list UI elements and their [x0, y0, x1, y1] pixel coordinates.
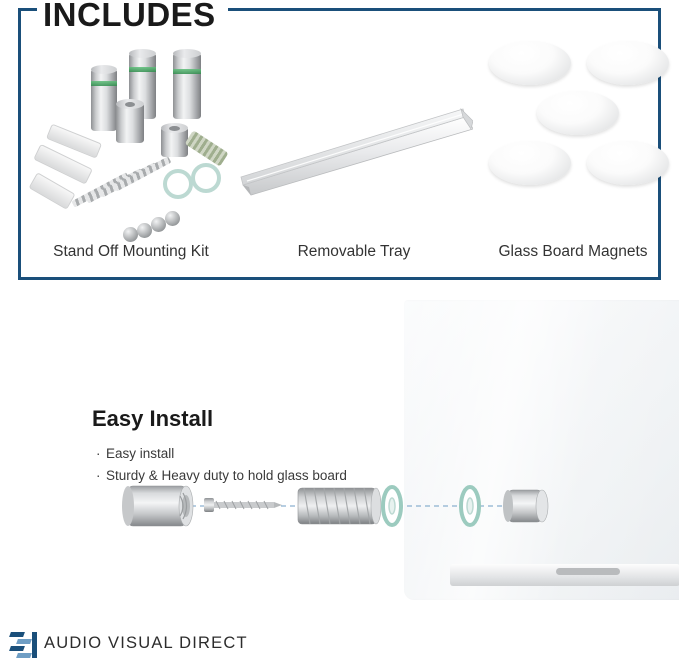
wall-anchor-icon	[29, 172, 76, 210]
washer-icon	[163, 169, 193, 199]
screw-head-icon	[123, 227, 138, 242]
includes-panel: INCLUDES	[18, 8, 661, 280]
exploded-assembly-diagram	[0, 288, 679, 628]
standoff-barrel-icon	[128, 486, 186, 526]
standoff-bore-icon	[169, 126, 180, 131]
washer-icon	[191, 163, 221, 193]
brand-name: AUDIO VISUAL DIRECT	[44, 634, 248, 653]
logo-bar	[16, 639, 32, 644]
magnet-icon	[587, 41, 669, 85]
caption-glass-board-magnets: Glass Board Magnets	[473, 243, 673, 261]
magnet-icon	[587, 141, 669, 185]
caption-removable-tray: Removable Tray	[259, 243, 449, 261]
standoff-barrel-top-icon	[129, 49, 156, 58]
standoff-barrel-icon	[91, 69, 117, 131]
caption-stand-off-mounting-kit: Stand Off Mounting Kit	[31, 243, 231, 261]
glass-board-magnets-graphic	[479, 27, 669, 197]
standoff-cap-icon	[503, 490, 548, 522]
green-band-icon	[173, 69, 201, 74]
washer-icon	[383, 487, 401, 525]
tray-icon	[233, 99, 473, 199]
logo-bar	[16, 653, 32, 658]
standoff-barrel-top-icon	[91, 65, 117, 74]
brand-logo-mark	[8, 630, 38, 658]
magnet-icon	[537, 91, 619, 135]
screw-head-icon	[165, 211, 180, 226]
screw-head-icon	[151, 217, 166, 232]
green-band-icon	[129, 67, 156, 72]
logo-bar	[9, 632, 25, 637]
standoff-barrel-icon	[173, 53, 201, 119]
threaded-post-icon	[298, 488, 381, 524]
footer: AUDIO VISUAL DIRECT	[0, 620, 679, 672]
stand-off-mounting-kit-graphic	[21, 11, 241, 231]
logo-bar-vertical	[32, 632, 37, 658]
washer-icon	[461, 487, 479, 525]
magnet-icon	[489, 141, 571, 185]
standoff-barrel-icon	[116, 103, 144, 143]
green-band-icon	[91, 81, 117, 86]
screw-head-icon	[137, 223, 152, 238]
easy-install-section: Easy Install ·Easy install ·Sturdy & Hea…	[0, 288, 679, 628]
logo-bar	[9, 646, 25, 651]
screw-icon	[204, 498, 282, 512]
removable-tray-graphic	[233, 99, 473, 199]
standoff-bore-icon	[125, 102, 135, 107]
threaded-post-icon	[185, 130, 229, 166]
magnet-icon	[489, 41, 571, 85]
standoff-barrel-top-icon	[173, 49, 201, 58]
